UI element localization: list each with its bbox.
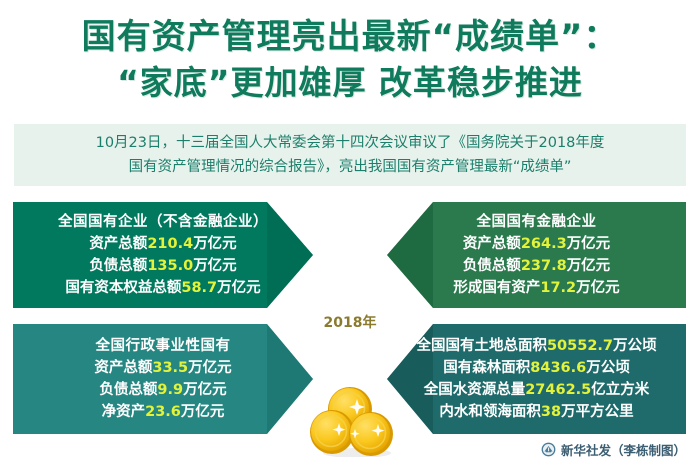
label-before: 全国水资源总量 [424, 382, 526, 398]
panel-soe-row-1: 负债总额135.0万亿元 [89, 255, 236, 277]
panel-natural-resources: 全国国有土地总面积50552.7万公顷 国有森林面积8436.6万公顷 全国水资… [387, 324, 686, 434]
title-line-2: “家底”更加雄厚 改革稳步推进 [0, 60, 700, 106]
credit-text: 新华社发（李栋制图） [561, 440, 686, 459]
value: 237.8 [521, 258, 567, 274]
panel-soe-heading: 全国国有企业（不含金融企业） [58, 211, 268, 233]
value: 38 [541, 404, 561, 420]
label-before: 净资产 [102, 404, 146, 420]
subtitle-line-1: 10月23日，十三届全国人大常委会第十四次会议审议了《国务院关于2018年度 [96, 131, 605, 155]
panel-admin-heading: 全国行政事业性国有 [96, 335, 231, 357]
panel-financial-row-0: 资产总额264.3万亿元 [463, 233, 610, 255]
label-before: 国有森林面积 [443, 360, 530, 376]
panel-soe-row-0: 资产总额210.4万亿元 [89, 233, 236, 255]
panel-financial-heading: 全国国有金融企业 [477, 211, 597, 233]
panel-soe-row-2: 国有资本权益总额58.7万亿元 [65, 277, 260, 299]
label-after: 万公顷 [613, 338, 657, 354]
label-before: 资产总额 [89, 236, 147, 252]
value: 33.5 [152, 360, 188, 376]
panel-admin-row-2: 净资产23.6万亿元 [102, 401, 225, 423]
label-before: 内水和领海面积 [439, 404, 541, 420]
panel-administrative-assets: 全国行政事业性国有 资产总额33.5万亿元 负债总额9.9万亿元 净资产23.6… [13, 324, 313, 434]
value: 23.6 [145, 404, 181, 420]
label-after: 万亿元 [181, 404, 225, 420]
label-before: 资产总额 [463, 236, 521, 252]
value: 8436.6 [530, 360, 586, 376]
label-after: 万亿元 [193, 258, 237, 274]
label-before: 负债总额 [463, 258, 521, 274]
label-before: 资产总额 [94, 360, 152, 376]
label-after: 万亿元 [183, 382, 227, 398]
title-line-1: 国有资产管理亮出最新“成绩单”： [0, 14, 700, 60]
label-after: 万平方公里 [561, 404, 634, 420]
label-after: 万亿元 [576, 280, 620, 296]
value: 135.0 [147, 258, 193, 274]
panel-admin-row-1: 负债总额9.9万亿元 [99, 379, 226, 401]
value: 17.2 [540, 280, 576, 296]
label-before: 负债总额 [99, 382, 157, 398]
label-after: 亿立方米 [591, 382, 649, 398]
panel-state-owned-financial-enterprises: 全国国有金融企业 资产总额264.3万亿元 负债总额237.8万亿元 形成国有资… [387, 202, 686, 308]
label-after: 万亿元 [567, 258, 611, 274]
label-before: 形成国有资产 [453, 280, 540, 296]
year-label: 2018年 [0, 312, 700, 332]
value: 27462.5 [525, 382, 591, 398]
panel-financial-row-1: 负债总额237.8万亿元 [463, 255, 610, 277]
credit-line: 新华社发（李栋制图） [541, 440, 686, 459]
xinhua-logo-icon [541, 442, 556, 457]
panel-natural-row-0: 全国国有土地总面积50552.7万公顷 [416, 335, 656, 357]
label-after: 万亿元 [193, 236, 237, 252]
label-before: 国有资本权益总额 [65, 280, 181, 296]
panel-admin-row-0: 资产总额33.5万亿元 [94, 357, 231, 379]
panel-state-owned-enterprises: 全国国有企业（不含金融企业） 资产总额210.4万亿元 负债总额135.0万亿元… [13, 202, 313, 308]
panel-natural-row-1: 国有森林面积8436.6万公顷 [443, 357, 629, 379]
label-before: 全国国有土地总面积 [416, 338, 547, 354]
arrow-tip-left [387, 202, 433, 308]
panel-natural-row-3: 内水和领海面积38万平方公里 [439, 401, 633, 423]
gold-coins-icon [305, 385, 399, 457]
value: 210.4 [147, 236, 193, 252]
value: 50552.7 [547, 338, 613, 354]
label-after: 万亿元 [567, 236, 611, 252]
page-title: 国有资产管理亮出最新“成绩单”： “家底”更加雄厚 改革稳步推进 [0, 14, 700, 106]
panel-natural-row-2: 全国水资源总量27462.5亿立方米 [424, 379, 650, 401]
label-after: 万公顷 [586, 360, 630, 376]
label-before: 负债总额 [89, 258, 147, 274]
value: 9.9 [157, 382, 183, 398]
arrow-tip-right [267, 202, 313, 308]
subtitle-band: 10月23日，十三届全国人大常委会第十四次会议审议了《国务院关于2018年度 国… [14, 124, 686, 186]
panel-financial-row-2: 形成国有资产17.2万亿元 [453, 277, 619, 299]
infographic-root: 国有资产管理亮出最新“成绩单”： “家底”更加雄厚 改革稳步推进 10月23日，… [0, 0, 700, 467]
label-after: 万亿元 [188, 360, 232, 376]
subtitle-line-2: 国有资产管理情况的综合报告》，亮出我国国有资产管理最新“成绩单” [129, 155, 572, 179]
value: 58.7 [181, 280, 217, 296]
label-after: 万亿元 [217, 280, 261, 296]
value: 264.3 [521, 236, 567, 252]
